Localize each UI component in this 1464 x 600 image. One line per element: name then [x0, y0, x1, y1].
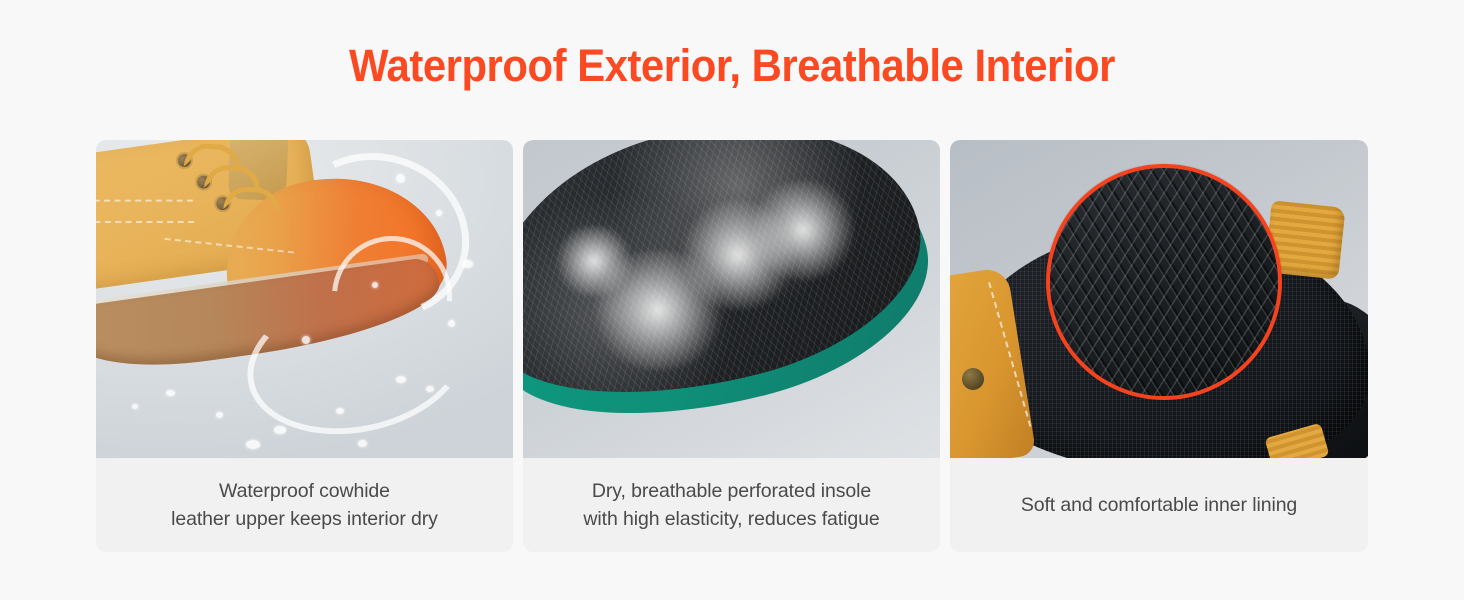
feature-card-breathable-insole: Dry, breathable perforated insole with h…: [523, 140, 940, 552]
inner-lining-image: [950, 140, 1368, 458]
feature-card-waterproof-cowhide: OR®: [96, 140, 513, 552]
mesh-lining-texture: [1046, 164, 1282, 400]
caption-line-1: Dry, breathable perforated insole: [583, 477, 879, 505]
caption-line-1: Waterproof cowhide: [171, 477, 438, 505]
insole-image: [523, 140, 940, 458]
caption-line-1: Soft and comfortable inner lining: [1021, 491, 1297, 519]
magnifier-circle-highlight: [1046, 164, 1282, 400]
water-droplet: [372, 282, 378, 288]
boot-stitch-line: [96, 200, 193, 202]
water-droplet: [274, 426, 286, 434]
vapor-cloud: [549, 226, 639, 296]
water-droplet: [396, 174, 405, 183]
water-droplet: [448, 320, 455, 327]
water-droplet: [358, 440, 367, 447]
feature-caption: Soft and comfortable inner lining: [950, 458, 1368, 552]
feature-card-soft-inner-lining: Soft and comfortable inner lining: [950, 140, 1368, 552]
vapor-cloud: [743, 180, 863, 280]
water-droplet: [246, 440, 260, 449]
feature-caption: Dry, breathable perforated insole with h…: [523, 458, 940, 552]
water-droplet: [426, 386, 434, 392]
boot-water-splash-image: OR®: [96, 140, 513, 458]
page-title: Waterproof Exterior, Breathable Interior: [51, 38, 1413, 94]
water-droplet: [166, 390, 175, 396]
feature-caption: Waterproof cowhide leather upper keeps i…: [96, 458, 513, 552]
water-droplet: [462, 260, 473, 268]
infographic-page: Waterproof Exterior, Breathable Interior: [0, 0, 1464, 600]
water-droplet: [336, 408, 344, 414]
water-droplet: [302, 336, 310, 344]
boot-stitch-line: [96, 221, 194, 223]
water-droplet: [132, 404, 138, 409]
boot-eyelet: [962, 368, 984, 390]
caption-line-2: leather upper keeps interior dry: [171, 505, 438, 533]
feature-cards-row: OR®: [96, 140, 1368, 552]
caption-line-2: with high elasticity, reduces fatigue: [583, 505, 879, 533]
water-droplet: [396, 376, 406, 383]
water-droplet: [216, 412, 223, 418]
water-droplet: [436, 210, 442, 216]
